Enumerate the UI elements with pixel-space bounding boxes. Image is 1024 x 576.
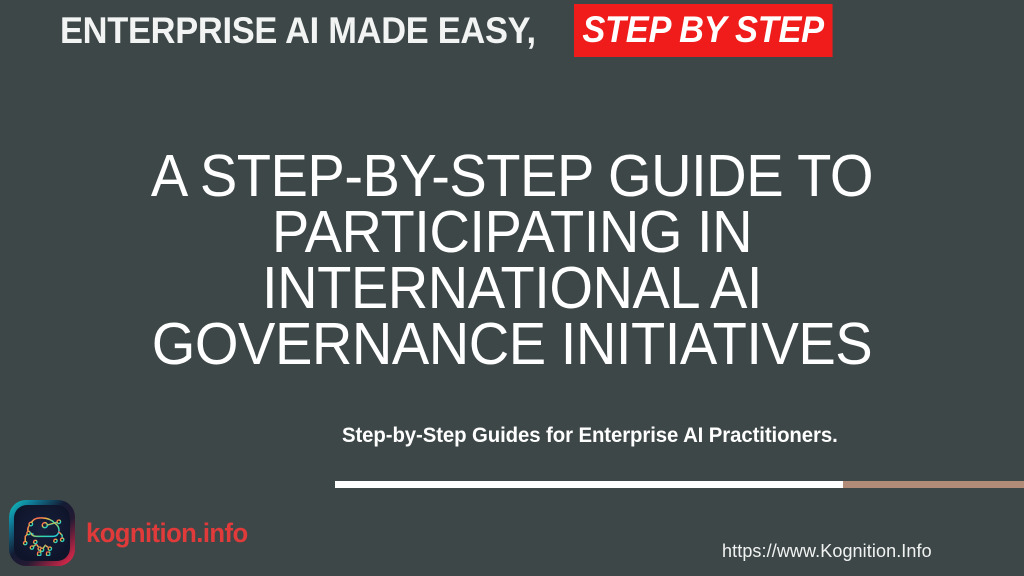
- headline-line-4: GOVERNANCE INITIATIVES: [48, 316, 975, 372]
- brand-name-label: kognition.info: [86, 520, 248, 547]
- circuit-brain-icon: [9, 500, 75, 566]
- divider-secondary-segment: [843, 481, 1024, 488]
- slide-divider: [335, 481, 1024, 488]
- brand-lockup: kognition.info: [9, 500, 256, 566]
- footer-website-url: https://www.Kognition.Info: [722, 541, 932, 562]
- kicker-plain-text: ENTERPRISE AI MADE EASY,: [60, 12, 536, 49]
- circuit-brain-glyph: [14, 505, 70, 561]
- headline-line-1: A STEP-BY-STEP GUIDE TO: [48, 148, 975, 204]
- headline-line-3: INTERNATIONAL AI: [48, 260, 975, 316]
- kicker-highlight-badge: STEP BY STEP: [574, 4, 832, 57]
- slide-subtitle: Step-by-Step Guides for Enterprise AI Pr…: [342, 424, 838, 448]
- divider-primary-segment: [335, 481, 843, 488]
- presentation-slide: ENTERPRISE AI MADE EASY, STEP BY STEP A …: [0, 0, 1024, 576]
- circuit-brain-icon-inner: [14, 505, 70, 561]
- slide-headline: A STEP-BY-STEP GUIDE TO PARTICIPATING IN…: [48, 148, 975, 372]
- headline-line-2: PARTICIPATING IN: [48, 204, 975, 260]
- slide-kicker: ENTERPRISE AI MADE EASY, STEP BY STEP: [60, 6, 974, 54]
